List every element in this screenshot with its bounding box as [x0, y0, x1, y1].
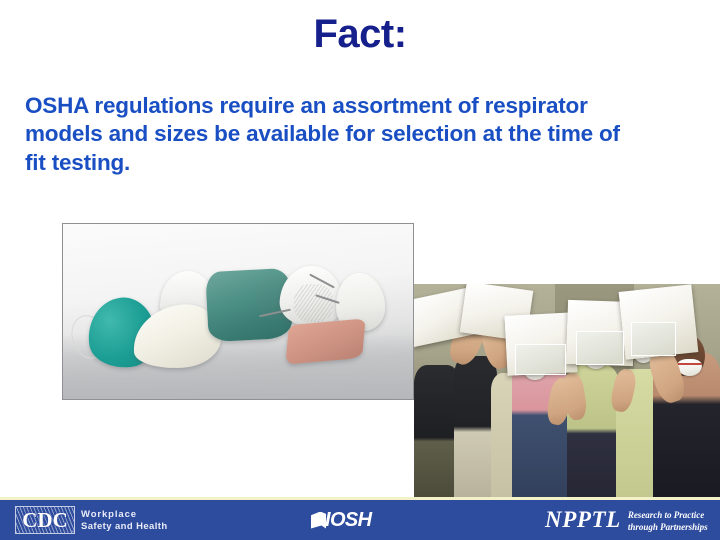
slide-canvas: Fact: OSHA regulations require an assort…: [0, 0, 720, 540]
npptl-wordmark: NPPTL: [545, 507, 621, 533]
fit-test-hood-window: [515, 344, 566, 376]
cdc-tagline: Workplace Safety and Health: [81, 509, 168, 532]
respirator-assortment-photo: [62, 223, 414, 400]
cdc-logo-wordmark: CDC: [16, 507, 74, 533]
respirator-strap: [677, 363, 701, 365]
fit-testing-photo: [414, 284, 720, 497]
npptl-tagline: Research to Practice through Partnership…: [628, 507, 708, 533]
n95-respirator: [677, 359, 701, 376]
slide-body-text: OSHA regulations require an assortment o…: [25, 92, 640, 177]
respirator-photo-content: [63, 224, 413, 399]
pink-flatfold-mask: [285, 318, 365, 364]
fit-test-hood-window: [631, 322, 676, 356]
niosh-wordmark: IOSH: [325, 509, 372, 532]
npptl-tagline-line-2: through Partnerships: [628, 522, 708, 533]
footer-logo-band: CDC ™ Workplace Safety and Health IOSH N…: [0, 497, 720, 540]
respirator-fabric-texture-2: [294, 284, 333, 323]
cdc-trademark-symbol: ™: [70, 530, 75, 536]
niosh-flag-icon: [311, 512, 326, 529]
cdc-tagline-line-2: Safety and Health: [81, 521, 168, 533]
cdc-logo: CDC: [15, 506, 75, 534]
cdc-tagline-line-1: Workplace: [81, 509, 168, 521]
npptl-logo: NPPTL Research to Practice through Partn…: [545, 507, 708, 533]
niosh-logo: IOSH: [311, 508, 372, 532]
npptl-tagline-line-1: Research to Practice: [628, 510, 708, 521]
page-title: Fact:: [0, 14, 720, 54]
fit-test-hood-window: [576, 331, 624, 365]
